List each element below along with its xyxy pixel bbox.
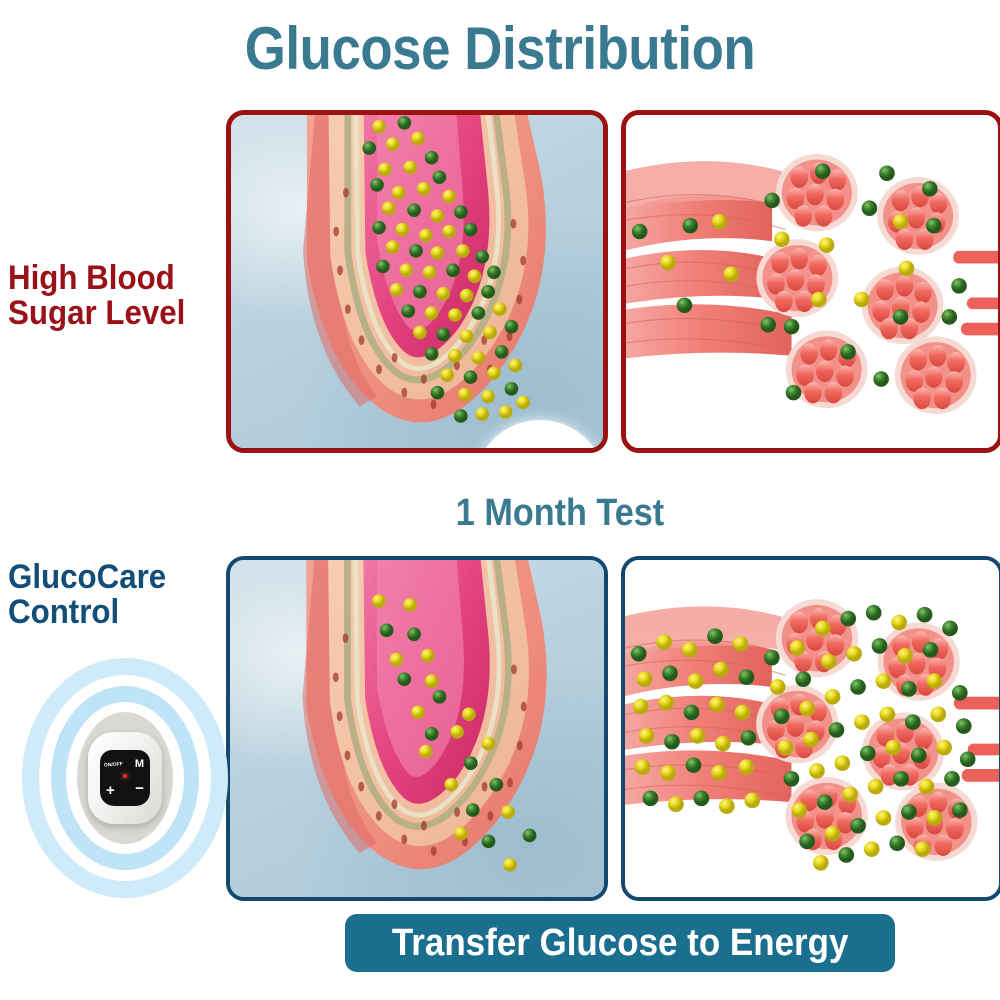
transfer-glucose-banner: Transfer Glucose to Energy	[345, 914, 895, 972]
device-body: ON/OFF M + −	[88, 732, 162, 824]
page-title: Glucose Distribution	[60, 14, 940, 83]
muscle-fiber-illustration	[626, 115, 998, 448]
one-month-test-caption: 1 Month Test	[281, 492, 839, 535]
power-button[interactable]: ON/OFF	[104, 762, 123, 768]
power-led-indicator	[123, 774, 127, 778]
row-label-glucocare-control: GlucoCare Control	[8, 560, 166, 631]
increase-button[interactable]: +	[106, 783, 115, 798]
panel-blood-vessel-after: 20%	[226, 556, 608, 901]
glucocare-device: ON/OFF M + −	[20, 655, 230, 900]
muscle-fiber-illustration	[625, 560, 999, 897]
decrease-button[interactable]: −	[135, 781, 144, 796]
blood-vessel-illustration	[231, 115, 603, 448]
panel-muscle-fibers-before: 25%	[621, 110, 1000, 453]
banner-label: Transfer Glucose to Energy	[392, 922, 849, 965]
panel-blood-vessel-before: 70%	[226, 110, 608, 453]
blood-vessel-illustration	[230, 560, 604, 897]
mode-button[interactable]: M	[135, 759, 144, 770]
row-label-high-blood-sugar: High Blood Sugar Level	[8, 261, 185, 332]
device-control-panel: ON/OFF M + −	[100, 750, 150, 806]
panel-muscle-fibers-after: 73%	[621, 556, 1000, 901]
